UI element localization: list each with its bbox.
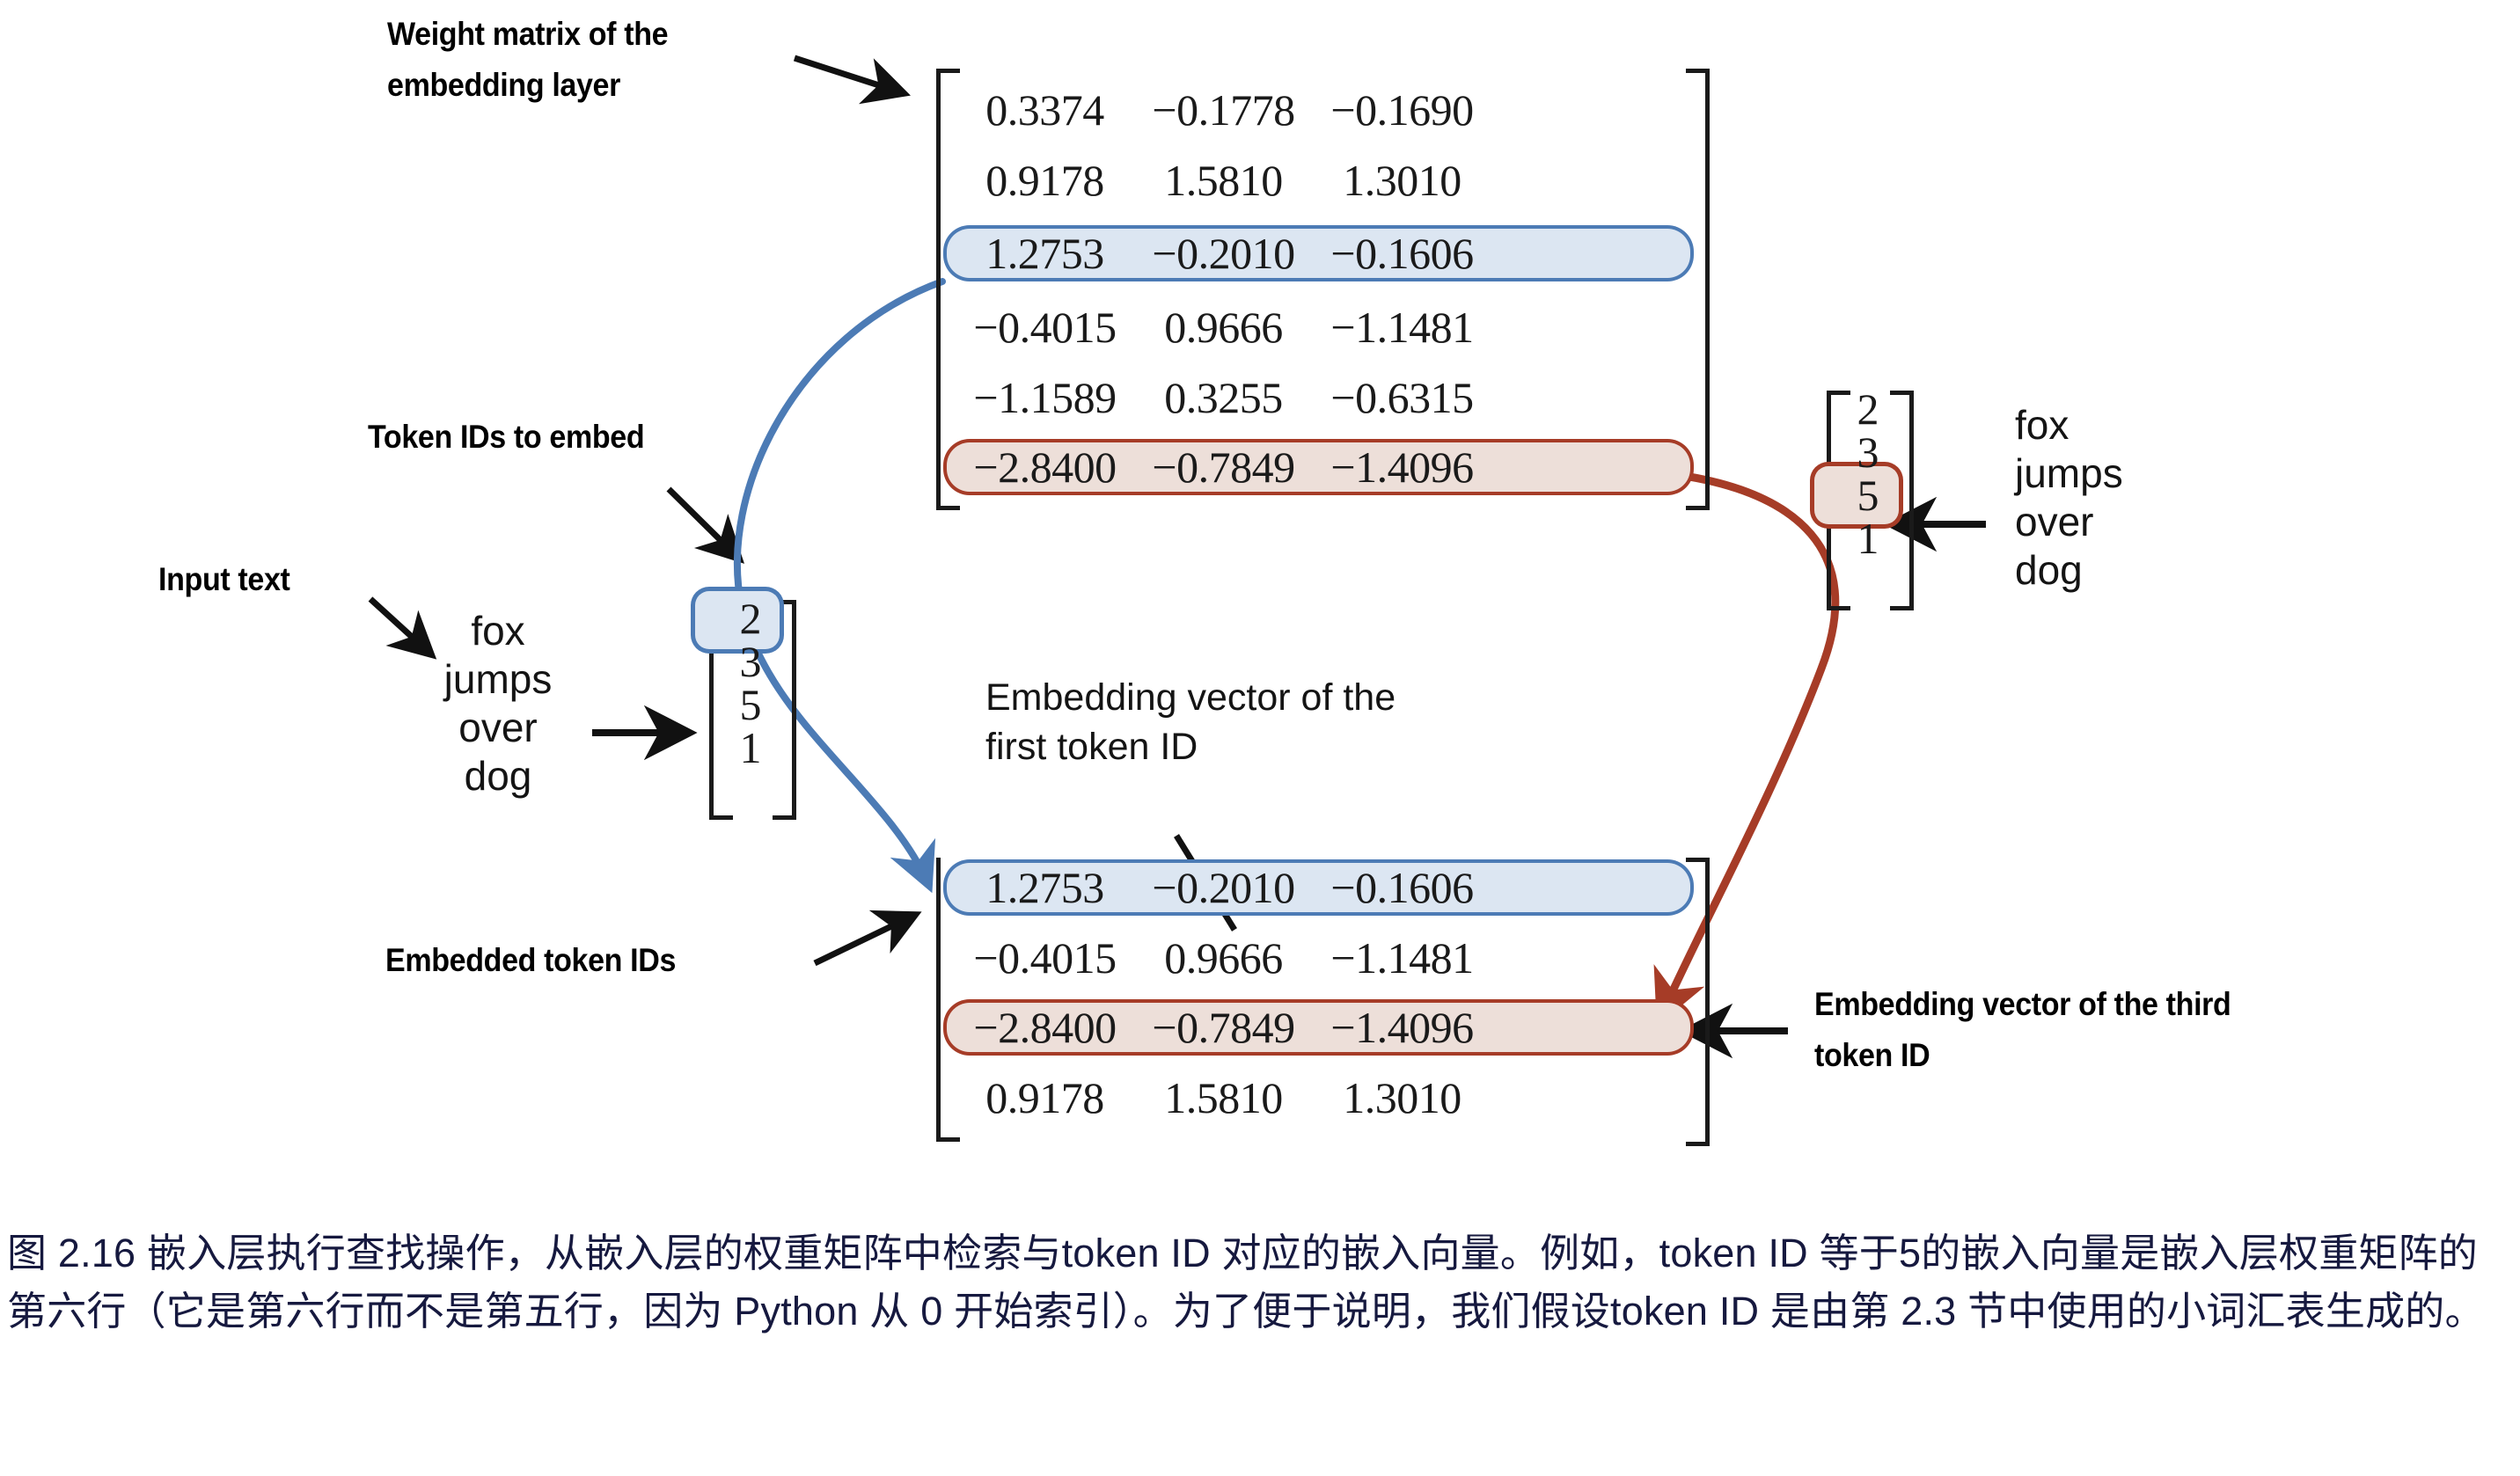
matrix-cell: 0.9666 <box>1134 302 1313 353</box>
input-token-id: 1 <box>723 727 778 770</box>
label-embedding-vector-third: Embedding vector of the third token ID <box>1814 979 2231 1081</box>
matrix-cell: 1.5810 <box>1134 1072 1313 1123</box>
matrix-cell: −0.2010 <box>1134 862 1313 913</box>
matrix-cell: −0.7849 <box>1134 1002 1313 1053</box>
embedded-matrix-row: −0.4015 0.9666 −1.1481 <box>956 936 1686 979</box>
matrix-cell: 0.9666 <box>1134 932 1313 983</box>
figure-caption: 图 2.16 嵌入层执行查找操作，从嵌入层的权重矩阵中检索与token ID 对… <box>7 1224 2515 1341</box>
curve-blue-lookup <box>737 281 942 884</box>
matrix-cell: −1.4096 <box>1313 1002 1491 1053</box>
embedded-matrix-row-highlight-red: −2.8400 −0.7849 −1.4096 <box>947 1003 1690 1052</box>
matrix-cell: 0.9178 <box>956 155 1134 206</box>
matrix-cell: −0.6315 <box>1313 372 1491 423</box>
label-token-ids-to-embed: Token IDs to embed <box>368 412 644 463</box>
matrix-cell: −0.7849 <box>1134 442 1313 493</box>
matrix-cell: −0.1606 <box>1313 228 1491 279</box>
matrix-cell: −0.1778 <box>1134 84 1313 135</box>
weight-matrix-row-highlight-blue: 1.2753 −0.2010 −0.1606 <box>947 229 1690 278</box>
matrix-cell: −1.1481 <box>1313 302 1491 353</box>
matrix-cell: −2.8400 <box>956 1002 1134 1053</box>
matrix-cell: −0.4015 <box>956 302 1134 353</box>
input-token-id: 3 <box>723 640 778 683</box>
weight-matrix-row-highlight-red: −2.8400 −0.7849 −1.4096 <box>947 442 1690 492</box>
matrix-cell: −2.8400 <box>956 442 1134 493</box>
input-words: fox jumps over dog <box>401 607 595 800</box>
matrix-cell: −1.4096 <box>1313 442 1491 493</box>
matrix-cell: −1.1589 <box>956 372 1134 423</box>
input-token-id: 2 <box>723 597 778 640</box>
input-token-id: 5 <box>723 683 778 727</box>
bracket-right-embedded-matrix <box>1686 858 1710 1146</box>
weight-matrix-row: −0.4015 0.9666 −1.1481 <box>956 305 1686 348</box>
matrix-cell: −0.1606 <box>1313 862 1491 913</box>
arrow-embedded-token-ids <box>815 915 915 963</box>
matrix-cell: 1.2753 <box>956 862 1134 913</box>
output-words: fox jumps over dog <box>2015 401 2226 595</box>
matrix-cell: −0.4015 <box>956 932 1134 983</box>
output-token-id: 1 <box>1841 517 1895 560</box>
matrix-cell: −1.1481 <box>1313 932 1491 983</box>
weight-matrix-row: −1.1589 0.3255 −0.6315 <box>956 376 1686 419</box>
embedded-matrix-row-highlight-blue: 1.2753 −0.2010 −0.1606 <box>947 863 1690 912</box>
output-token-id: 2 <box>1841 388 1895 431</box>
bracket-right-weight-matrix <box>1686 69 1710 510</box>
output-token-id: 5 <box>1841 474 1895 517</box>
matrix-cell: −0.2010 <box>1134 228 1313 279</box>
matrix-cell: 1.3010 <box>1313 1072 1491 1123</box>
weight-matrix-row: 0.9178 1.5810 1.3010 <box>956 158 1686 201</box>
matrix-cell: 0.3374 <box>956 84 1134 135</box>
matrix-cell: −0.1690 <box>1313 84 1491 135</box>
label-embedded-token-ids: Embedded token IDs <box>385 935 676 986</box>
label-embedding-vector-first: Embedding vector of the first token ID <box>985 673 1396 771</box>
output-token-id: 3 <box>1841 431 1895 474</box>
label-weight-matrix: Weight matrix of the embedding layer <box>387 9 668 111</box>
embedded-matrix-row: 0.9178 1.5810 1.3010 <box>956 1076 1686 1119</box>
label-input-text: Input text <box>158 554 289 605</box>
arrow-token-ids-to-embed <box>669 489 739 559</box>
matrix-cell: 1.5810 <box>1134 155 1313 206</box>
matrix-cell: 0.9178 <box>956 1072 1134 1123</box>
matrix-cell: 1.2753 <box>956 228 1134 279</box>
arrow-weight-matrix <box>795 58 904 93</box>
matrix-cell: 0.3255 <box>1134 372 1313 423</box>
matrix-cell: 1.3010 <box>1313 155 1491 206</box>
weight-matrix-row: 0.3374 −0.1778 −0.1690 <box>956 88 1686 131</box>
